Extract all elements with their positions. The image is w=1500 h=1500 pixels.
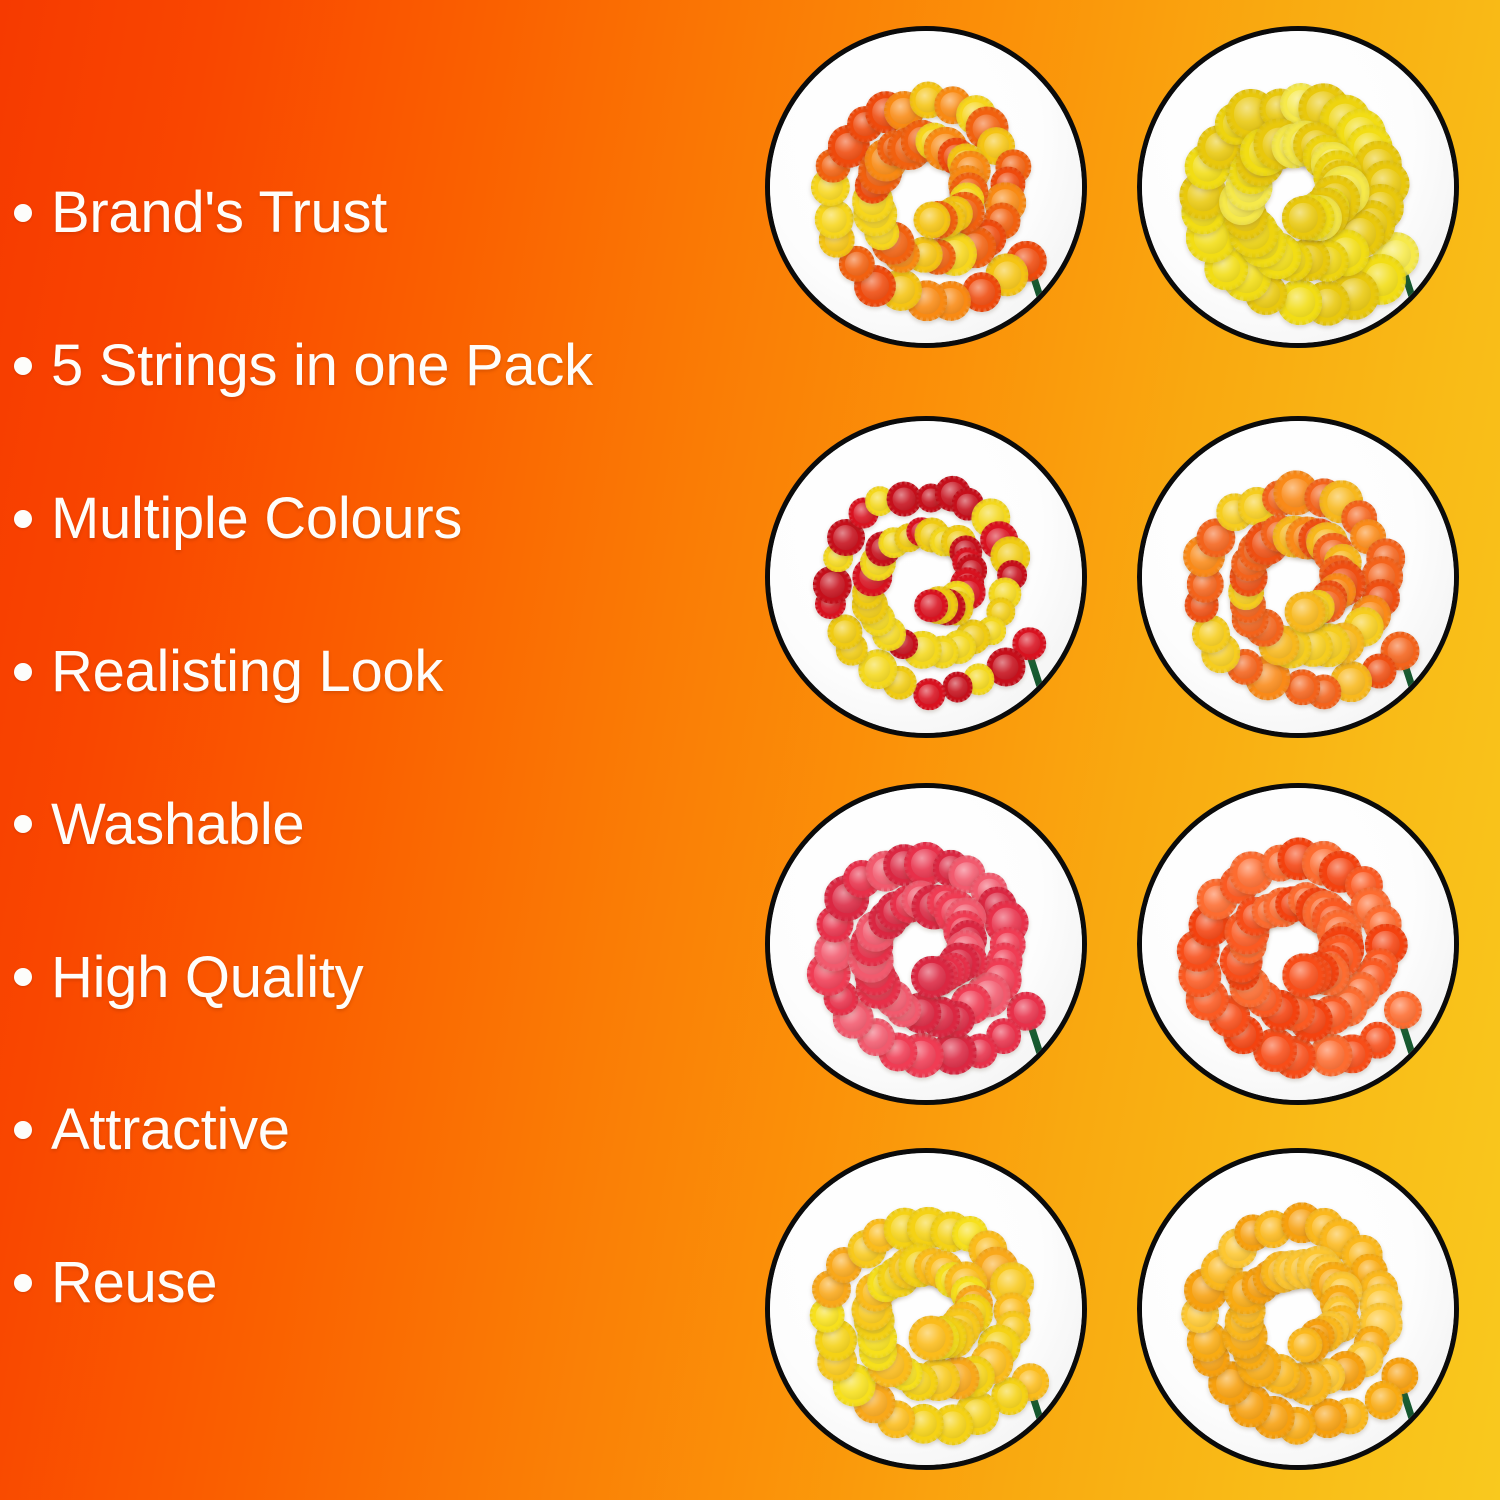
feature-item-washable: Washable xyxy=(0,789,745,859)
marigold-flower xyxy=(815,200,854,239)
bullet-dot-icon xyxy=(14,815,32,833)
feature-bullet-list: Brand's Trust 5 Strings in one Pack Mult… xyxy=(0,178,745,1318)
marigold-flower xyxy=(1288,1327,1323,1362)
marigold-flower xyxy=(1282,953,1326,997)
product-photo-pink-crimson-marigold-garland xyxy=(765,783,1087,1105)
garland-image xyxy=(770,31,1082,343)
garland-image xyxy=(770,1153,1082,1465)
product-photo-orange-yellow-dense-marigold-garland xyxy=(1137,416,1459,738)
garland-image xyxy=(1142,788,1454,1100)
feature-label: Realisting Look xyxy=(51,642,443,701)
feature-item-reuse: Reuse xyxy=(0,1248,745,1318)
bullet-dot-icon xyxy=(14,204,32,222)
feature-label: 5 Strings in one Pack xyxy=(51,336,593,395)
product-feature-graphic: Brand's Trust 5 Strings in one Pack Mult… xyxy=(0,0,1500,1500)
product-photo-orange-marigold-garland xyxy=(1137,783,1459,1105)
bullet-dot-icon xyxy=(14,1121,32,1139)
garland-image xyxy=(770,421,1082,733)
marigold-flower xyxy=(913,678,944,709)
product-photo-yellow-marigold-garland xyxy=(1137,26,1459,348)
product-photo-red-yellow-pompom-garland xyxy=(765,416,1087,738)
product-photo-gallery xyxy=(765,26,1470,1476)
feature-item-five-strings: 5 Strings in one Pack xyxy=(0,331,745,401)
feature-label: High Quality xyxy=(51,948,363,1007)
marigold-flower xyxy=(914,589,948,623)
garland-image xyxy=(1142,31,1454,343)
marigold-flower xyxy=(1365,1381,1403,1419)
feature-label: Multiple Colours xyxy=(51,489,462,548)
marigold-flower xyxy=(942,672,973,703)
feature-item-multiple-colours: Multiple Colours xyxy=(0,484,745,554)
bullet-dot-icon xyxy=(14,357,32,375)
feature-label: Reuse xyxy=(51,1253,217,1312)
garland-image xyxy=(1142,421,1454,733)
feature-item-brands-trust: Brand's Trust xyxy=(0,178,745,248)
bullet-dot-icon xyxy=(14,663,32,681)
product-photo-yellow-orange-mixed-marigold-garland xyxy=(765,26,1087,348)
product-photo-yellow-golden-marigold-garland xyxy=(765,1148,1087,1470)
marigold-flower xyxy=(914,201,951,238)
marigold-flower xyxy=(909,1316,954,1361)
product-photo-golden-amber-marigold-garland xyxy=(1137,1148,1459,1470)
feature-item-high-quality: High Quality xyxy=(0,942,745,1012)
garland-image xyxy=(770,788,1082,1100)
feature-label: Washable xyxy=(51,795,304,854)
feature-label: Attractive xyxy=(51,1100,290,1159)
marigold-flower xyxy=(1384,991,1422,1029)
feature-item-realisting-look: Realisting Look xyxy=(0,637,745,707)
garland-image xyxy=(1142,1153,1454,1465)
feature-item-attractive: Attractive xyxy=(0,1095,745,1165)
marigold-flower xyxy=(1285,592,1326,633)
feature-label: Brand's Trust xyxy=(51,183,387,242)
bullet-dot-icon xyxy=(14,1274,32,1292)
bullet-dot-icon xyxy=(14,968,32,986)
bullet-dot-icon xyxy=(14,510,32,528)
